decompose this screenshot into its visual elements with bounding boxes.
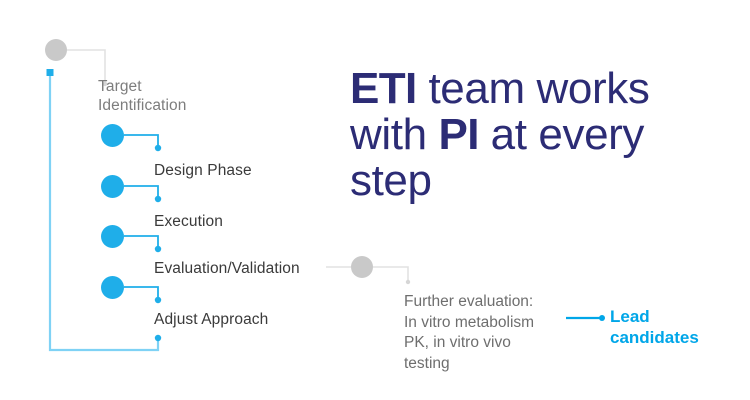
node-evaluation-validation[interactable] bbox=[101, 225, 124, 248]
connector-stage-design-phase bbox=[124, 135, 158, 145]
connector-endpoint-dot-adjust bbox=[155, 335, 161, 341]
node-execution[interactable] bbox=[101, 175, 124, 198]
connector-endpoint-dot-execution bbox=[155, 196, 161, 202]
connector-stage-evaluation bbox=[124, 236, 158, 246]
node-adjust-approach[interactable] bbox=[101, 276, 124, 299]
connector-main-spine bbox=[50, 74, 158, 350]
stage-label-evaluation-validation: Evaluation/Validation bbox=[154, 259, 300, 278]
node-target-identification[interactable] bbox=[45, 39, 67, 61]
connector-stage-adjust-approach bbox=[124, 287, 158, 297]
stage-label-execution: Execution bbox=[154, 212, 223, 231]
lead-candidates-label: Lead candidates bbox=[610, 306, 740, 348]
connector-endpoint-dot-design-phase bbox=[155, 145, 161, 151]
stage-label-design-phase: Design Phase bbox=[154, 161, 252, 180]
further-evaluation-text: Further evaluation: In vitro metabolism … bbox=[404, 292, 594, 374]
stage-label-target-identification: Target Identification bbox=[98, 77, 186, 115]
connector-endpoint-dot-further bbox=[406, 280, 410, 284]
connector-further-elbow bbox=[373, 267, 408, 280]
connector-endpoint-dot-evaluation bbox=[155, 246, 161, 252]
connector-stage-execution bbox=[124, 186, 158, 196]
connector-spine-top-cap bbox=[47, 69, 54, 76]
headline-emphasis-pi: PI bbox=[438, 110, 478, 159]
infographic-canvas: Target Identification Design Phase Execu… bbox=[0, 0, 750, 400]
node-design-phase[interactable] bbox=[101, 124, 124, 147]
headline-emphasis-eti: ETI bbox=[350, 64, 417, 113]
node-further-evaluation[interactable] bbox=[351, 256, 373, 278]
connector-endpoint-dot-adjust-approach bbox=[155, 297, 161, 303]
headline: ETI team works with PI at every step bbox=[350, 66, 700, 204]
stage-label-adjust-approach: Adjust Approach bbox=[154, 310, 268, 329]
connector-endpoint-dot-lead-candidates bbox=[599, 315, 605, 321]
